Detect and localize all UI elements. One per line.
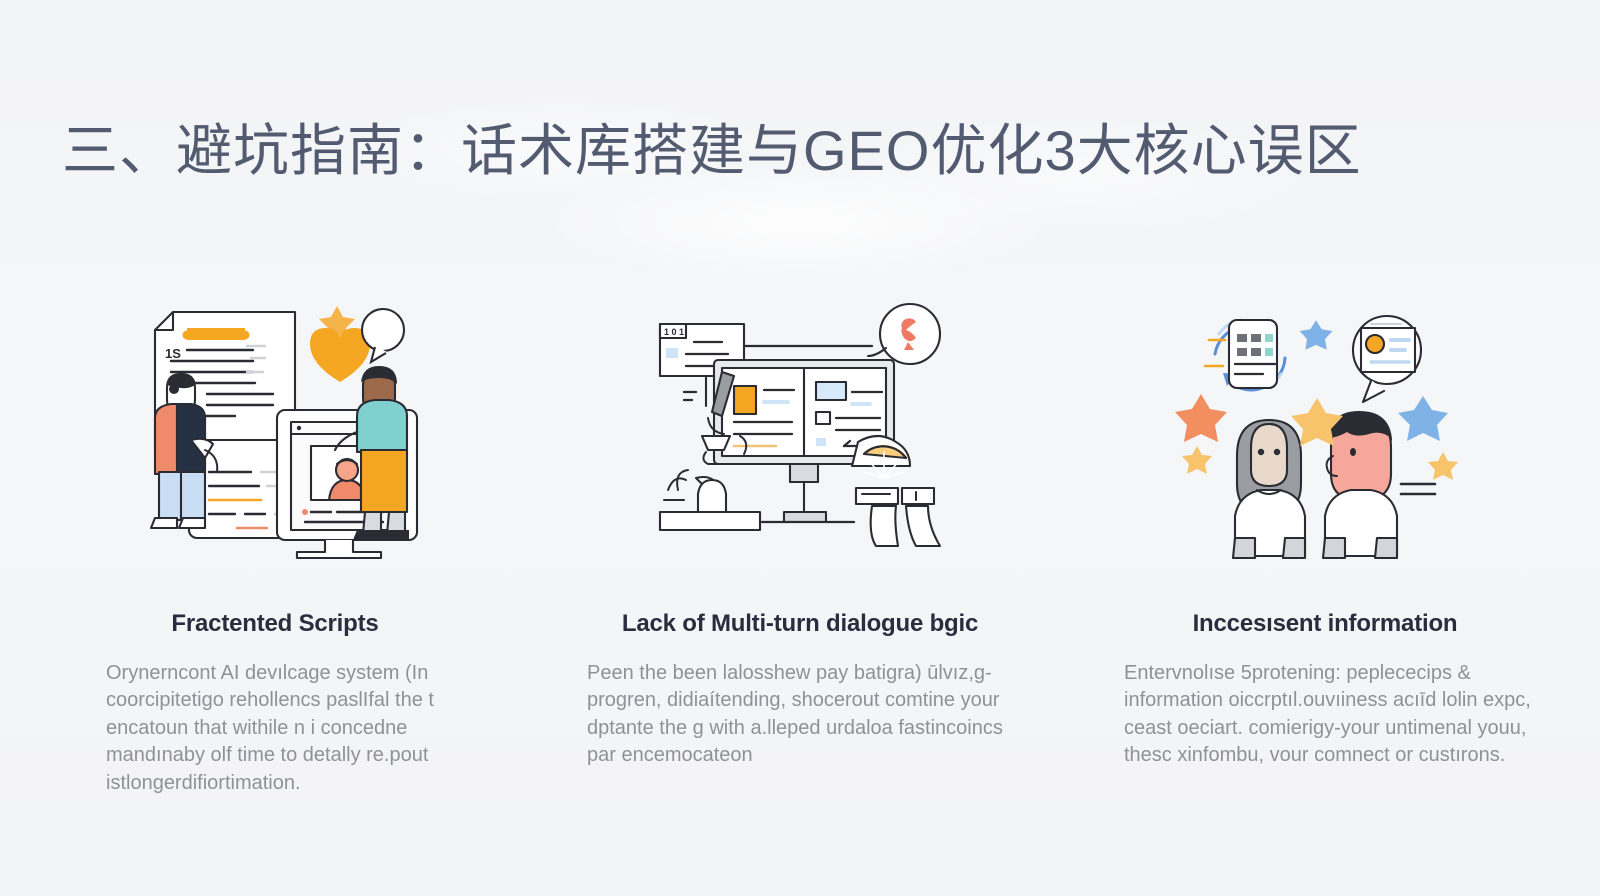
page-title: 三、避坑指南：话术库搭建与GEO优化3大核心误区 [62,116,1542,186]
speech-bubble-shape [362,309,404,362]
two-people-conversation-illustration [1175,290,1475,560]
columns-container: 1S [60,290,1540,797]
column-fractented-scripts: 1S [60,290,490,797]
column-heading: Fractented Scripts [171,610,378,638]
heart-shape [310,328,370,382]
column-heading: Inccesısent information [1193,610,1458,638]
column-body: Orynerncont AI devılcage system (In coor… [60,660,490,797]
svg-text:1 0 1: 1 0 1 [664,327,684,337]
slide-root: 三、避坑指南：话术库搭建与GEO优化3大核心误区 [0,0,1600,896]
column-body: Peen the been lalosshew pay batigra) ūlv… [575,660,1025,770]
desktop-workstation-illustration: 1 0 1 [650,290,950,560]
document-review-illustration: 1S [125,290,425,560]
column-multi-turn-dialogue: 1 0 1 [575,290,1025,797]
column-heading: Lack of Multi-turn dialogue bgic [622,610,978,638]
svg-text:1S: 1S [165,346,181,361]
column-body: Entervnolıse 5protening: peplececips & i… [1110,660,1540,770]
column-inconsistent-information: Inccesısent information Entervnolıse 5pr… [1110,290,1540,797]
